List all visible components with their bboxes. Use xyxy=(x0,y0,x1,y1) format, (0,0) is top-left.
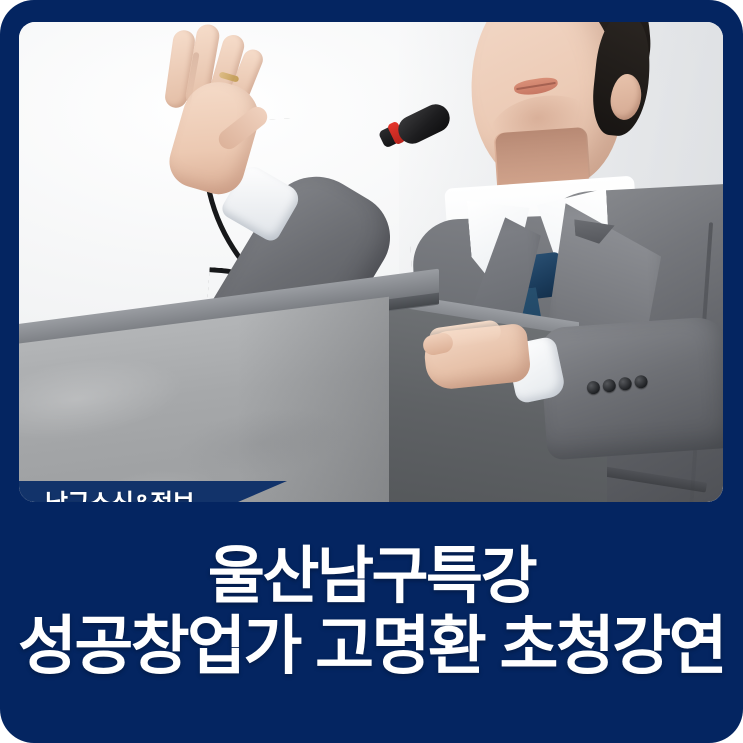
title-block: 울산남구특강 성공창업가 고명환 초청강연 xyxy=(0,545,743,680)
photo-canvas: 남구소식&정보 xyxy=(19,22,723,502)
sleeve-button xyxy=(618,376,632,390)
sleeve-button xyxy=(586,380,600,394)
category-ribbon-label: 남구소식&정보 xyxy=(19,492,194,503)
title-line-1: 울산남구특강 xyxy=(0,545,743,608)
hero-photo: 남구소식&정보 xyxy=(19,22,723,502)
sleeve-button xyxy=(602,378,616,392)
sleeve-button xyxy=(634,375,648,389)
title-line-2: 성공창업가 고명환 초청강연 xyxy=(0,614,743,679)
promo-card: 남구소식&정보 울산남구특강 성공창업가 고명환 초청강연 xyxy=(0,0,743,743)
